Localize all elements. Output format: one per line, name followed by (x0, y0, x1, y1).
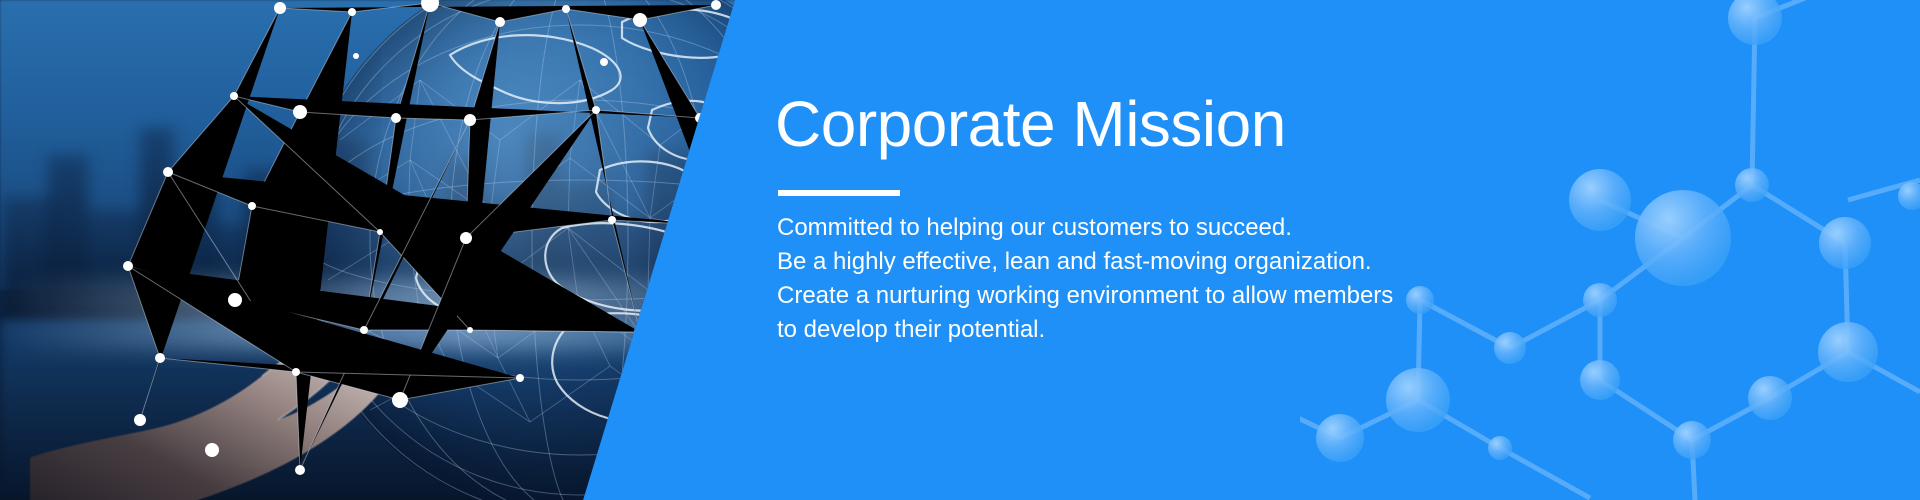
corporate-mission-banner: Corporate Mission Committed to helping o… (0, 0, 1920, 500)
mission-line-3: Create a nurturing working environment t… (777, 279, 1393, 313)
mission-content: Corporate Mission Committed to helping o… (775, 0, 1775, 500)
mission-line-2: Be a highly effective, lean and fast-mov… (777, 245, 1393, 279)
title-underline-rule (778, 190, 900, 196)
mission-line-1: Committed to helping our customers to su… (777, 211, 1393, 245)
mission-statement: Committed to helping our customers to su… (777, 211, 1393, 347)
page-title: Corporate Mission (775, 92, 1286, 156)
mission-line-4: to develop their potential. (777, 313, 1393, 347)
